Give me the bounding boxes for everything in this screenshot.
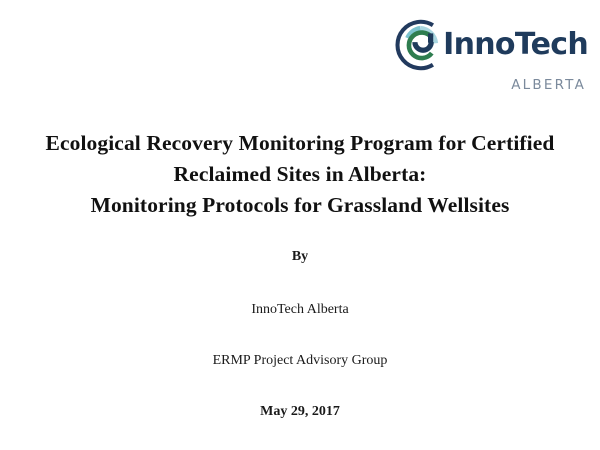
title-line-3: Monitoring Protocols for Grassland Wells…: [28, 190, 572, 221]
logo-wordmark: InnoTech: [443, 30, 588, 60]
byline-by-label: By: [0, 248, 600, 266]
logo-row: InnoTech: [412, 14, 588, 76]
title-line-2: Reclaimed Sites in Alberta:: [28, 159, 572, 190]
logo-subtitle: ALBERTA: [412, 79, 588, 93]
byline-organization: InnoTech Alberta: [0, 301, 600, 319]
byline-spacer-2: [0, 319, 600, 352]
byline-spacer-3: [0, 370, 600, 403]
byline-date: May 29, 2017: [0, 403, 600, 421]
byline-spacer-1: [0, 266, 600, 301]
innotech-circular-arc-mark: [390, 16, 448, 74]
innotech-alberta-logo: InnoTech ALBERTA: [412, 14, 588, 100]
title-line-1: Ecological Recovery Monitoring Program f…: [28, 128, 572, 159]
document-page: InnoTech ALBERTA Ecological Recovery Mon…: [0, 0, 600, 450]
document-title: Ecological Recovery Monitoring Program f…: [28, 128, 572, 221]
byline-block: By InnoTech Alberta ERMP Project Advisor…: [0, 248, 600, 421]
byline-advisory-group: ERMP Project Advisory Group: [0, 352, 600, 370]
